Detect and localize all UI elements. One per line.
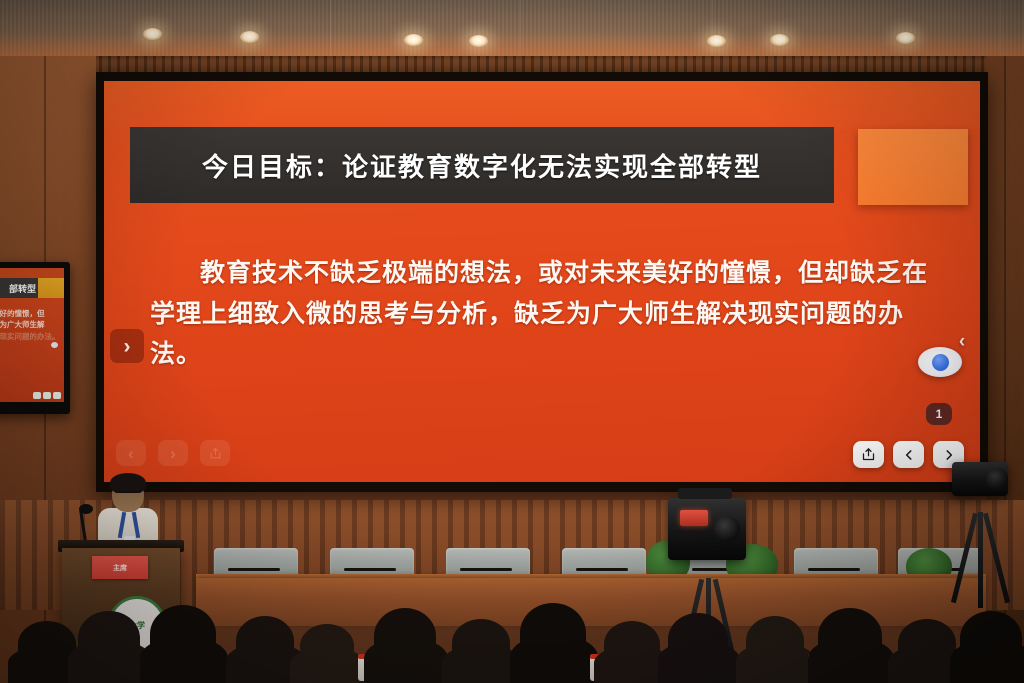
ghost-control-bar: ‹ › (116, 440, 230, 466)
ceiling-spotlight (707, 35, 726, 47)
ghost-next-button[interactable]: › (158, 440, 188, 466)
tripod-leg (983, 513, 1010, 603)
side-confidence-monitor: 部转型 美好的憧憬，但 乏为广大师生解 决现实问题的办法。 (0, 262, 70, 414)
side-monitor-controls (33, 392, 61, 399)
institution-logo-text: 大学 (129, 621, 145, 630)
camera-handle (678, 488, 732, 499)
projection-screen: 今日目标：论证教育数字化无法实现全部转型 教育技术不缺乏极端的想法，或对未来美好… (104, 81, 980, 482)
chevron-left-icon (902, 448, 916, 462)
presenter-glasses (115, 491, 141, 499)
side-monitor-body: 美好的憧憬，但 乏为广大师生解 决现实问题的办法。 (0, 308, 64, 342)
ceiling-spotlight (770, 34, 789, 46)
side-monitor-button[interactable] (43, 392, 51, 399)
slide-top-band (104, 81, 980, 129)
ceiling-spotlight (143, 28, 162, 40)
side-monitor-line-2: 乏为广大师生解 (0, 319, 64, 330)
ceiling-spotlight (404, 34, 423, 46)
desk-microphone (344, 568, 396, 571)
presenter-hair (110, 473, 146, 493)
institution-logo: 大学 (108, 596, 166, 654)
ceiling (0, 0, 1024, 62)
side-monitor-pointer-icon (51, 342, 58, 348)
side-monitor-line-3: 决现实问题的办法。 (0, 331, 64, 342)
right-camera-tripod (946, 490, 1016, 610)
tripod-leg (713, 579, 740, 678)
center-camera-tripod (664, 560, 754, 680)
ghost-share-button[interactable] (200, 440, 230, 466)
side-monitor-title-banner: 部转型 (0, 278, 39, 298)
share-icon (209, 447, 222, 460)
podium-name-card: 主席 (92, 556, 148, 579)
podium-name-card-text: 主席 (113, 563, 127, 573)
slide-title-banner: 今日目标：论证教育数字化无法实现全部转型 (130, 127, 834, 203)
slide-accent-block (858, 129, 968, 205)
slide-next-edge-button[interactable]: › (110, 329, 144, 363)
projection-screen-bezel: 今日目标：论证教育数字化无法实现全部转型 教育技术不缺乏极端的想法，或对未来美好… (96, 72, 988, 492)
camera-lens (714, 516, 740, 542)
tripod-leg (951, 513, 978, 603)
share-icon (861, 447, 876, 462)
podium-microphone-head (79, 504, 93, 514)
side-monitor-screen: 部转型 美好的憧憬，但 乏为广大师生解 决现实问题的办法。 (0, 268, 64, 402)
conference-room-photo: 今日目标：论证教育数字化无法实现全部转型 教育技术不缺乏极端的想法，或对未来美好… (0, 0, 1024, 683)
ghost-previous-button[interactable]: ‹ (116, 440, 146, 466)
chevron-right-icon (942, 448, 956, 462)
ceiling-spotlight (469, 35, 488, 47)
side-monitor-accent-block (38, 278, 64, 298)
tripod-leg (706, 578, 711, 682)
tripod-leg (978, 512, 983, 608)
share-button[interactable] (853, 441, 884, 468)
desk-microphone (228, 568, 280, 571)
ceiling-spotlight (896, 32, 915, 44)
side-monitor-top-band (0, 268, 64, 278)
laser-pointer-toggle[interactable] (918, 347, 962, 377)
desk-microphone (576, 568, 628, 571)
camera-display-screen (680, 510, 708, 526)
side-monitor-button[interactable] (33, 392, 41, 399)
side-monitor-title: 部转型 (9, 282, 36, 295)
previous-slide-button[interactable] (893, 441, 924, 468)
side-monitor-line-1: 美好的憧憬，但 (0, 308, 64, 319)
desk-microphone (460, 568, 512, 571)
page-number-badge: 1 (926, 403, 952, 425)
slide-title: 今日目标：论证教育数字化无法实现全部转型 (202, 147, 762, 184)
tripod-leg (677, 579, 704, 678)
slide-body-text: 教育技术不缺乏极端的想法，或对未来美好的憧憬，但却缺乏在学理上细致入微的思考与分… (150, 253, 940, 375)
pointer-dot-icon (932, 354, 949, 371)
camera-lens (986, 468, 1008, 490)
ceiling-spotlight (240, 31, 259, 43)
side-monitor-button[interactable] (53, 392, 61, 399)
panel-table (196, 578, 986, 626)
slide-control-bar (853, 441, 964, 468)
desk-microphone (808, 568, 860, 571)
